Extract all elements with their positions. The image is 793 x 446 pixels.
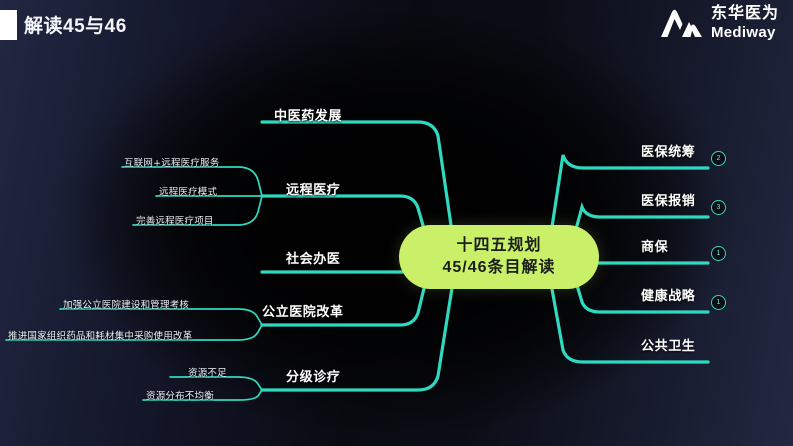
branch-label-insurance-reimbursement[interactable]: 医保报销 — [641, 190, 695, 209]
connector-sub-hosp-1 — [60, 309, 262, 325]
central-topic-line-2: 45/46条目解读 — [442, 257, 555, 279]
sub-label-strengthen-public-hospital-mgmt[interactable]: 加强公立医院建设和管理考核 — [63, 297, 189, 311]
sub-label-improve-telemedicine-projects[interactable]: 完善远程医疗项目 — [136, 213, 214, 227]
page-title: 解读45与46 — [24, 11, 127, 38]
central-topic-node[interactable]: 十四五规划 45/46条目解读 — [399, 225, 599, 289]
branch-label-tiered-care[interactable]: 分级诊疗 — [286, 366, 340, 385]
brand-name-en: Mediway — [711, 25, 779, 40]
header-accent-bar — [0, 10, 17, 40]
mediway-mountain-logo-icon — [659, 6, 705, 40]
sub-label-telemedicine-model[interactable]: 远程医疗模式 — [159, 184, 217, 198]
sub-label-insufficient-resources[interactable]: 资源不足 — [188, 365, 227, 379]
sub-label-internet-telemedicine-service[interactable]: 互联网+远程医疗服务 — [124, 155, 219, 169]
branch-label-insurance-pooling[interactable]: 医保统筹 — [641, 141, 695, 160]
branch-label-public-health[interactable]: 公共卫生 — [641, 335, 695, 354]
badge-insurance-pooling: 2 — [711, 151, 726, 166]
brand-logo-text: 东华医为 Mediway — [711, 6, 779, 40]
central-topic-line-1: 十四五规划 — [456, 235, 541, 257]
mindmap-connectors — [0, 0, 793, 446]
connector-left-telemedicine — [262, 196, 428, 243]
badge-health-strategy: 1 — [711, 295, 726, 310]
badge-commercial-insurance: 1 — [711, 246, 726, 261]
branch-label-health-strategy[interactable]: 健康战略 — [641, 285, 695, 304]
connector-left-tcm — [262, 122, 452, 232]
branch-label-telemedicine[interactable]: 远程医疗 — [286, 179, 340, 198]
brand-logo: 东华医为 Mediway — [659, 6, 779, 40]
branch-label-social-medical[interactable]: 社会办医 — [286, 248, 340, 267]
slide-header: 解读45与46 东华医为 Mediway — [0, 0, 793, 52]
brand-name-cn: 东华医为 — [711, 6, 779, 22]
sub-label-centralized-procurement-reform[interactable]: 推进国家组织药品和耗材集中采购使用改革 — [8, 328, 192, 342]
branch-label-tcm-development[interactable]: 中医药发展 — [274, 105, 342, 124]
slide-canvas: 解读45与46 东华医为 Mediway — [0, 0, 793, 446]
sub-label-uneven-resource-distribution[interactable]: 资源分布不均衡 — [146, 388, 214, 402]
branch-label-public-hospital-reform[interactable]: 公立医院改革 — [262, 301, 344, 320]
badge-insurance-reimbursement: 3 — [711, 200, 726, 215]
branch-label-commercial-insurance[interactable]: 商保 — [641, 236, 668, 255]
